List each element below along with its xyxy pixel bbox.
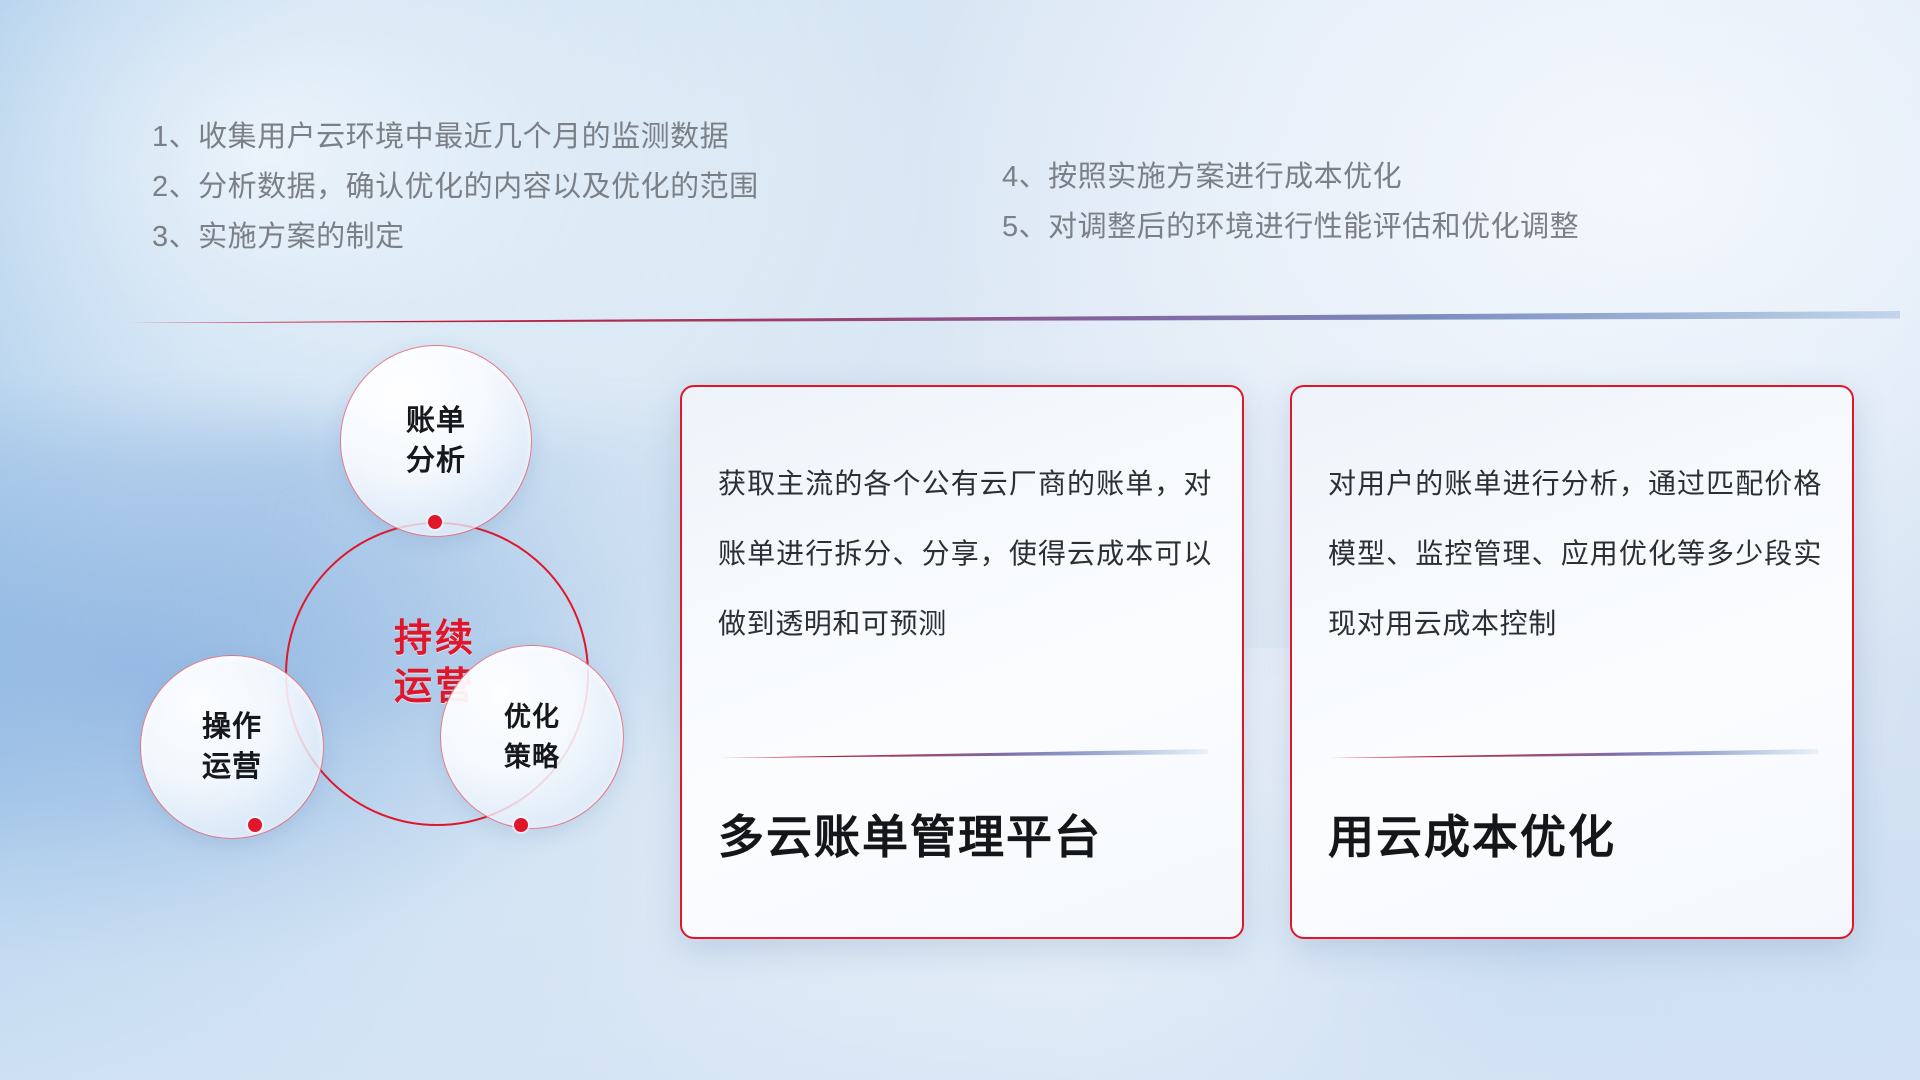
venn-bubble-optimization-strategy-line1: 优化 [504, 697, 560, 737]
header-step-lists: 1、收集用户云环境中最近几个月的监测数据 2、分析数据，确认优化的内容以及优化的… [0, 0, 1920, 300]
venn-bubble-bill-analysis-line2: 分析 [406, 441, 466, 481]
section-divider [100, 311, 1900, 323]
venn-bubble-operations[interactable]: 操作 运营 [140, 655, 324, 839]
venn-bubble-optimization-strategy-line2: 策略 [504, 737, 560, 777]
header-step-1: 1、收集用户云环境中最近几个月的监测数据 [152, 112, 759, 162]
venn-node-dot-bottom-right [514, 818, 528, 832]
card-left-title: 多云账单管理平台 [718, 807, 1212, 867]
header-step-2: 2、分析数据，确认优化的内容以及优化的范围 [152, 162, 759, 212]
card-multi-cloud-bill-platform[interactable]: 获取主流的各个公有云厂商的账单，对账单进行拆分、分享，使得云成本可以做到透明和可… [680, 385, 1244, 939]
header-step-3: 3、实施方案的制定 [152, 212, 759, 262]
header-steps-left-column: 1、收集用户云环境中最近几个月的监测数据 2、分析数据，确认优化的内容以及优化的… [152, 112, 759, 262]
header-step-5: 5、对调整后的环境进行性能评估和优化调整 [1002, 202, 1579, 252]
venn-bubble-operations-line1: 操作 [202, 707, 262, 747]
card-left-body: 获取主流的各个公有云厂商的账单，对账单进行拆分、分享，使得云成本可以做到透明和可… [718, 449, 1212, 659]
header-steps-right-column: 4、按照实施方案进行成本优化 5、对调整后的环境进行性能评估和优化调整 [1002, 152, 1579, 252]
card-cloud-cost-optimization[interactable]: 对用户的账单进行分析，通过匹配价格模型、监控管理、应用优化等多少段实现对用云成本… [1290, 385, 1854, 939]
venn-bubble-bill-analysis-line1: 账单 [406, 401, 466, 441]
venn-diagram: 持续 运营 账单 分析 操作 运营 优化 策略 [95, 355, 635, 955]
venn-bubble-bill-analysis[interactable]: 账单 分析 [340, 345, 532, 537]
header-step-4: 4、按照实施方案进行成本优化 [1002, 152, 1579, 202]
venn-bubble-optimization-strategy[interactable]: 优化 策略 [440, 645, 624, 829]
divider-gradient-bar [100, 311, 1900, 323]
venn-node-dot-top [428, 515, 442, 529]
card-left-divider [720, 749, 1208, 758]
venn-node-dot-bottom-left [248, 818, 262, 832]
venn-bubble-operations-line2: 运营 [202, 747, 262, 787]
card-right-title: 用云成本优化 [1328, 807, 1822, 867]
card-right-divider [1330, 749, 1818, 758]
card-right-body: 对用户的账单进行分析，通过匹配价格模型、监控管理、应用优化等多少段实现对用云成本… [1328, 449, 1822, 659]
